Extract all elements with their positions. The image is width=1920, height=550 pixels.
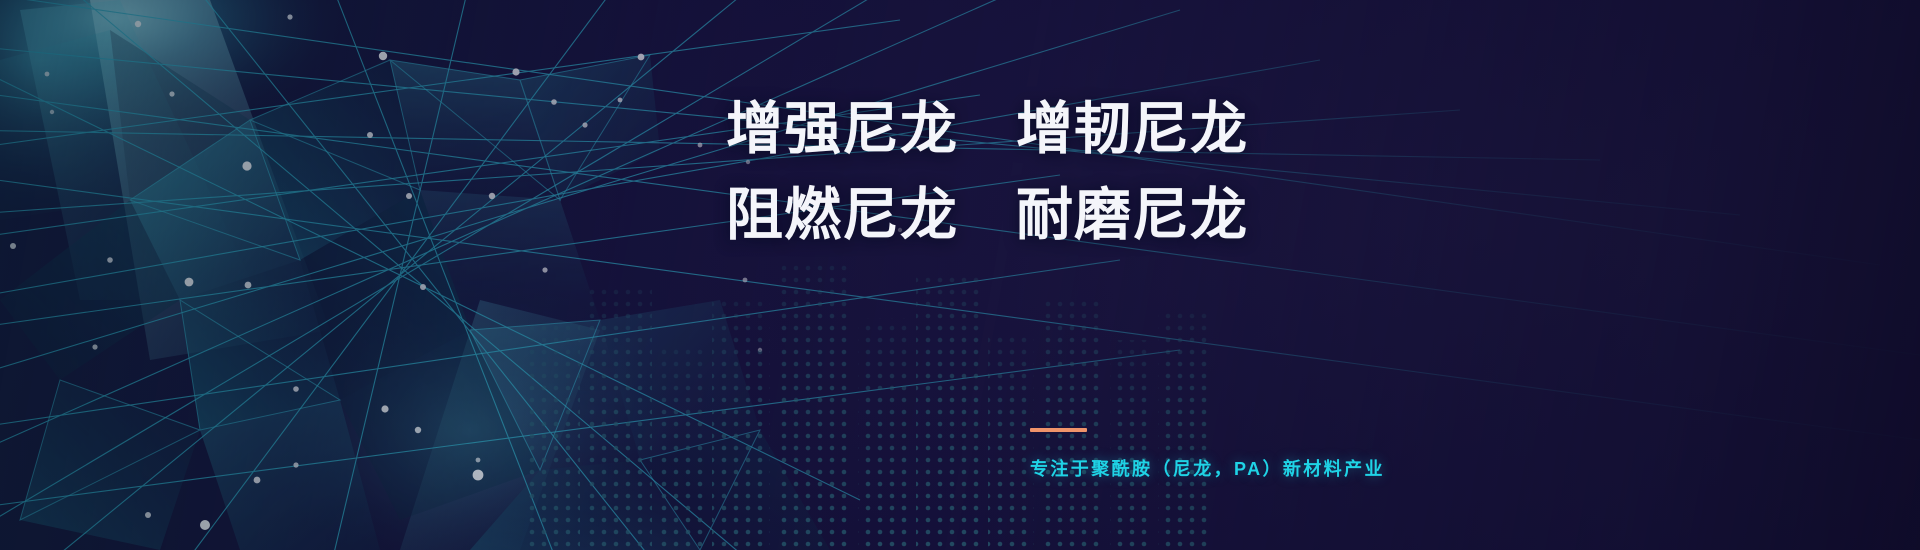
tagline-divider <box>1030 428 1087 432</box>
headline-line-1: 增强尼龙 增韧尼龙 <box>726 86 1486 172</box>
background-right-fade <box>0 0 1920 550</box>
tagline-text: 专注于聚酰胺（尼龙，PA）新材料产业 <box>1030 455 1385 481</box>
tagline-block: 专注于聚酰胺（尼龙，PA）新材料产业 <box>1030 428 1385 481</box>
headline-line-2: 阻燃尼龙 耐磨尼龙 <box>726 172 1486 258</box>
hero-banner: 增强尼龙 增韧尼龙 阻燃尼龙 耐磨尼龙 专注于聚酰胺（尼龙，PA）新材料产业 <box>0 0 1920 550</box>
headline-block: 增强尼龙 增韧尼龙 阻燃尼龙 耐磨尼龙 <box>726 86 1486 258</box>
